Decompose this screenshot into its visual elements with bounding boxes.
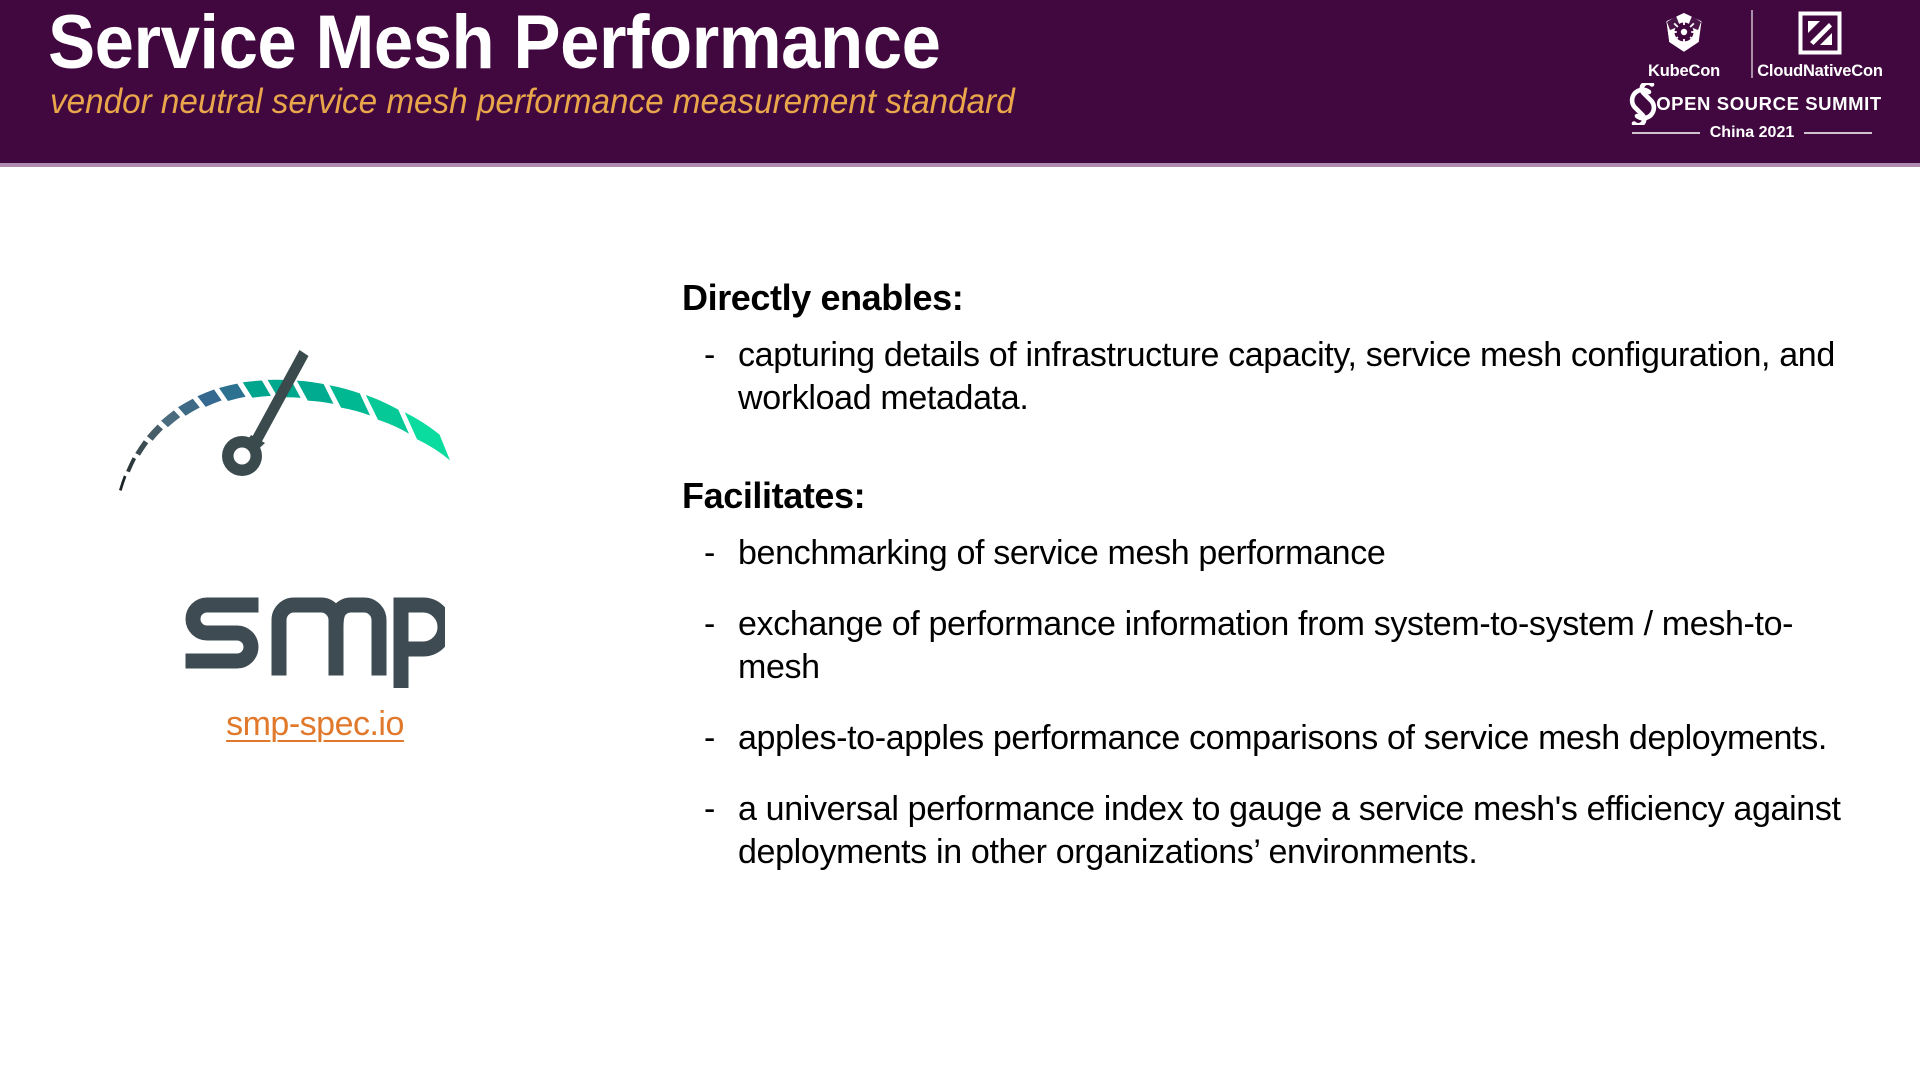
list-item-text: a universal performance index to gauge a… <box>738 788 1872 874</box>
cloudnativecon-label: CloudNativeCon <box>1757 62 1883 81</box>
rule-right <box>1804 132 1872 134</box>
list-item-text: exchange of performance information from… <box>738 603 1872 689</box>
event-year-label: China 2021 <box>1710 124 1794 142</box>
bullet-marker-icon: - <box>682 788 738 831</box>
gauge-needle <box>222 350 309 476</box>
kubecon-label: KubeCon <box>1648 62 1720 81</box>
header-underline-rule <box>0 163 1920 167</box>
list-item: - a universal performance index to gauge… <box>682 788 1872 874</box>
list-item: - benchmarking of service mesh performan… <box>682 532 1872 575</box>
page-title: Service Mesh Performance <box>48 2 940 84</box>
bullet-marker-icon: - <box>682 532 738 575</box>
list-item-text: apples-to-apples performance comparisons… <box>738 717 1872 760</box>
kubecon-logo-block: KubeCon <box>1619 8 1749 81</box>
bullet-marker-icon: - <box>682 334 738 377</box>
smp-logo-panel: smp-spec.io <box>95 250 535 790</box>
lockup-divider <box>1751 10 1753 78</box>
list-item: - apples-to-apples performance compariso… <box>682 717 1872 760</box>
smp-gauge-icon <box>95 250 535 570</box>
section-heading-facilitates: Facilitates: <box>682 476 1872 516</box>
bullet-marker-icon: - <box>682 603 738 646</box>
event-year-row: China 2021 <box>1602 124 1902 142</box>
section-heading-directly-enables: Directly enables: <box>682 278 1872 318</box>
cloudnativecon-icon <box>1798 8 1842 58</box>
cloudnativecon-logo-block: CloudNativeCon <box>1755 8 1885 81</box>
bullet-list-facilitates: - benchmarking of service mesh performan… <box>682 532 1872 875</box>
smp-spec-link[interactable]: smp-spec.io <box>226 705 404 743</box>
open-source-summit-row: OPEN SOURCE SUMMIT <box>1602 84 1902 124</box>
kubernetes-helm-icon <box>1660 8 1708 58</box>
rule-left <box>1632 132 1700 134</box>
list-item: - capturing details of infrastructure ca… <box>682 334 1872 420</box>
list-item-text: benchmarking of service mesh performance <box>738 532 1872 575</box>
bullet-marker-icon: - <box>682 717 738 760</box>
open-source-summit-label: OPEN SOURCE SUMMIT <box>1656 93 1882 115</box>
smp-wordmark <box>95 568 535 688</box>
list-item: - exchange of performance information fr… <box>682 603 1872 689</box>
bullet-list-directly-enables: - capturing details of infrastructure ca… <box>682 334 1872 420</box>
event-logo-lockup: KubeCon CloudNativeCon OPEN SOURCE SUMMI… <box>1602 8 1902 158</box>
page-subtitle: vendor neutral service mesh performance … <box>50 82 1015 122</box>
smp-link-row: smp-spec.io <box>95 705 535 744</box>
list-item-text: capturing details of infrastructure capa… <box>738 334 1872 420</box>
content-column: Directly enables: - capturing details of… <box>682 278 1872 875</box>
conference-logos-row: KubeCon CloudNativeCon <box>1602 8 1902 88</box>
